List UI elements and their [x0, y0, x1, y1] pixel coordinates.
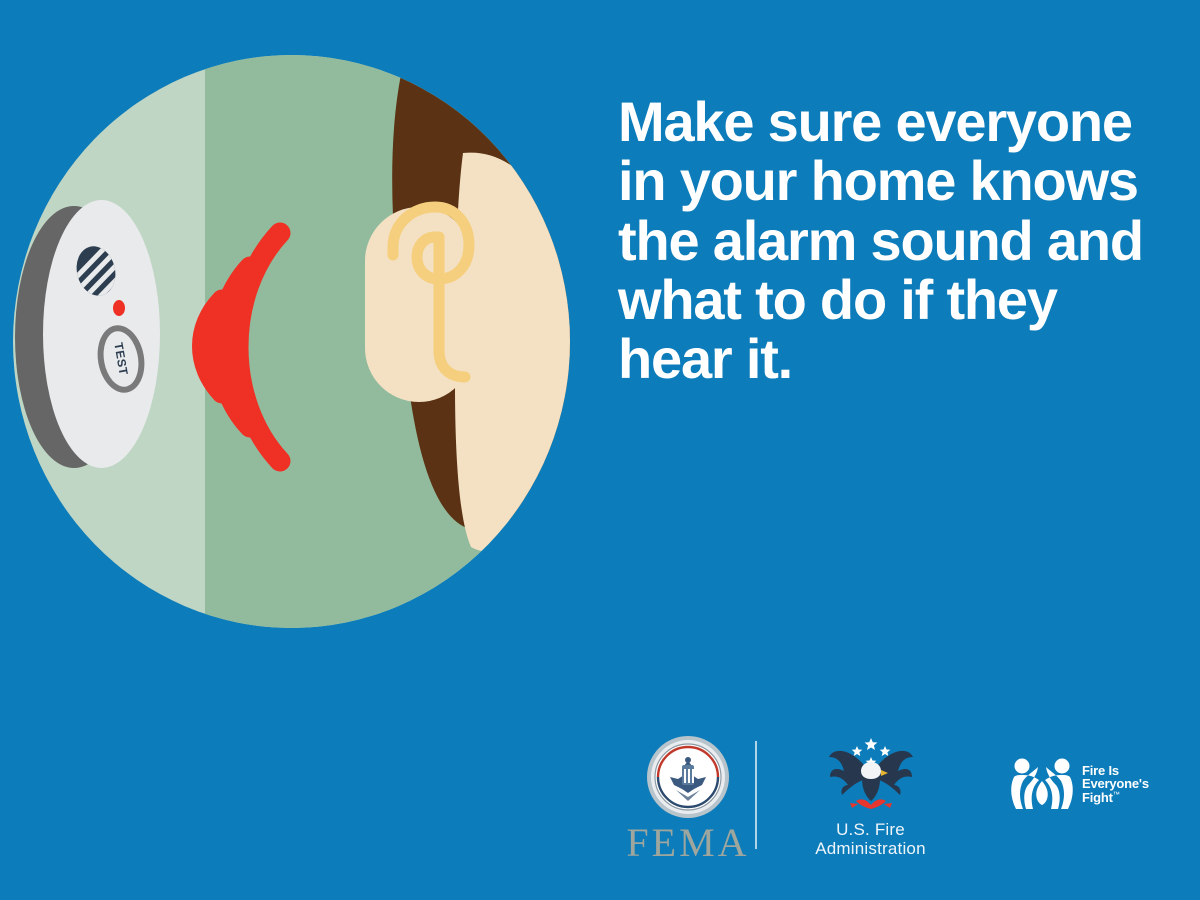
headline-line-5: hear it. [618, 329, 1178, 388]
person-head-illustration [343, 55, 570, 628]
headline-line-4: what to do if they [618, 270, 1178, 329]
fief-trademark: ™ [1113, 791, 1120, 798]
dhs-seal-icon [646, 735, 730, 819]
usfa-wordmark: U.S. Fire Administration [778, 820, 963, 858]
sound-wave-icon [188, 205, 333, 480]
poster-canvas: TEST [0, 0, 1200, 900]
alarm-led-indicator [113, 300, 125, 316]
usfa-line-1: U.S. Fire [778, 820, 963, 839]
fema-wordmark: FEMA [618, 823, 758, 863]
headline-line-1: Make sure everyone [618, 92, 1178, 151]
usfa-line-2: Administration [778, 839, 963, 858]
illustration-circle: TEST [13, 55, 570, 628]
logo-divider [755, 741, 757, 849]
smoke-alarm-device: TEST [15, 200, 160, 475]
fief-line-1: Fire Is [1082, 764, 1149, 778]
usfa-logo: U.S. Fire Administration [778, 735, 963, 858]
headline-line-2: in your home knows [618, 151, 1178, 210]
fief-line-2: Everyone's [1082, 777, 1149, 791]
usfa-eagle-icon [826, 735, 916, 813]
smoke-alarm-illustration: TEST [13, 55, 570, 628]
fief-wordmark: Fire Is Everyone's Fight™ [1082, 764, 1149, 805]
fief-line-3: Fight™ [1082, 791, 1149, 805]
fema-logo: FEMA [618, 735, 758, 863]
page-title: Make sure everyone in your home knows th… [618, 92, 1178, 389]
footer-logo-strip: FEMA [600, 735, 1180, 865]
fief-people-flame-icon [1008, 755, 1076, 813]
fire-is-everyones-fight-logo: Fire Is Everyone's Fight™ [1008, 755, 1173, 813]
headline-line-3: the alarm sound and [618, 211, 1178, 270]
alarm-test-button-label: TEST [111, 341, 131, 376]
